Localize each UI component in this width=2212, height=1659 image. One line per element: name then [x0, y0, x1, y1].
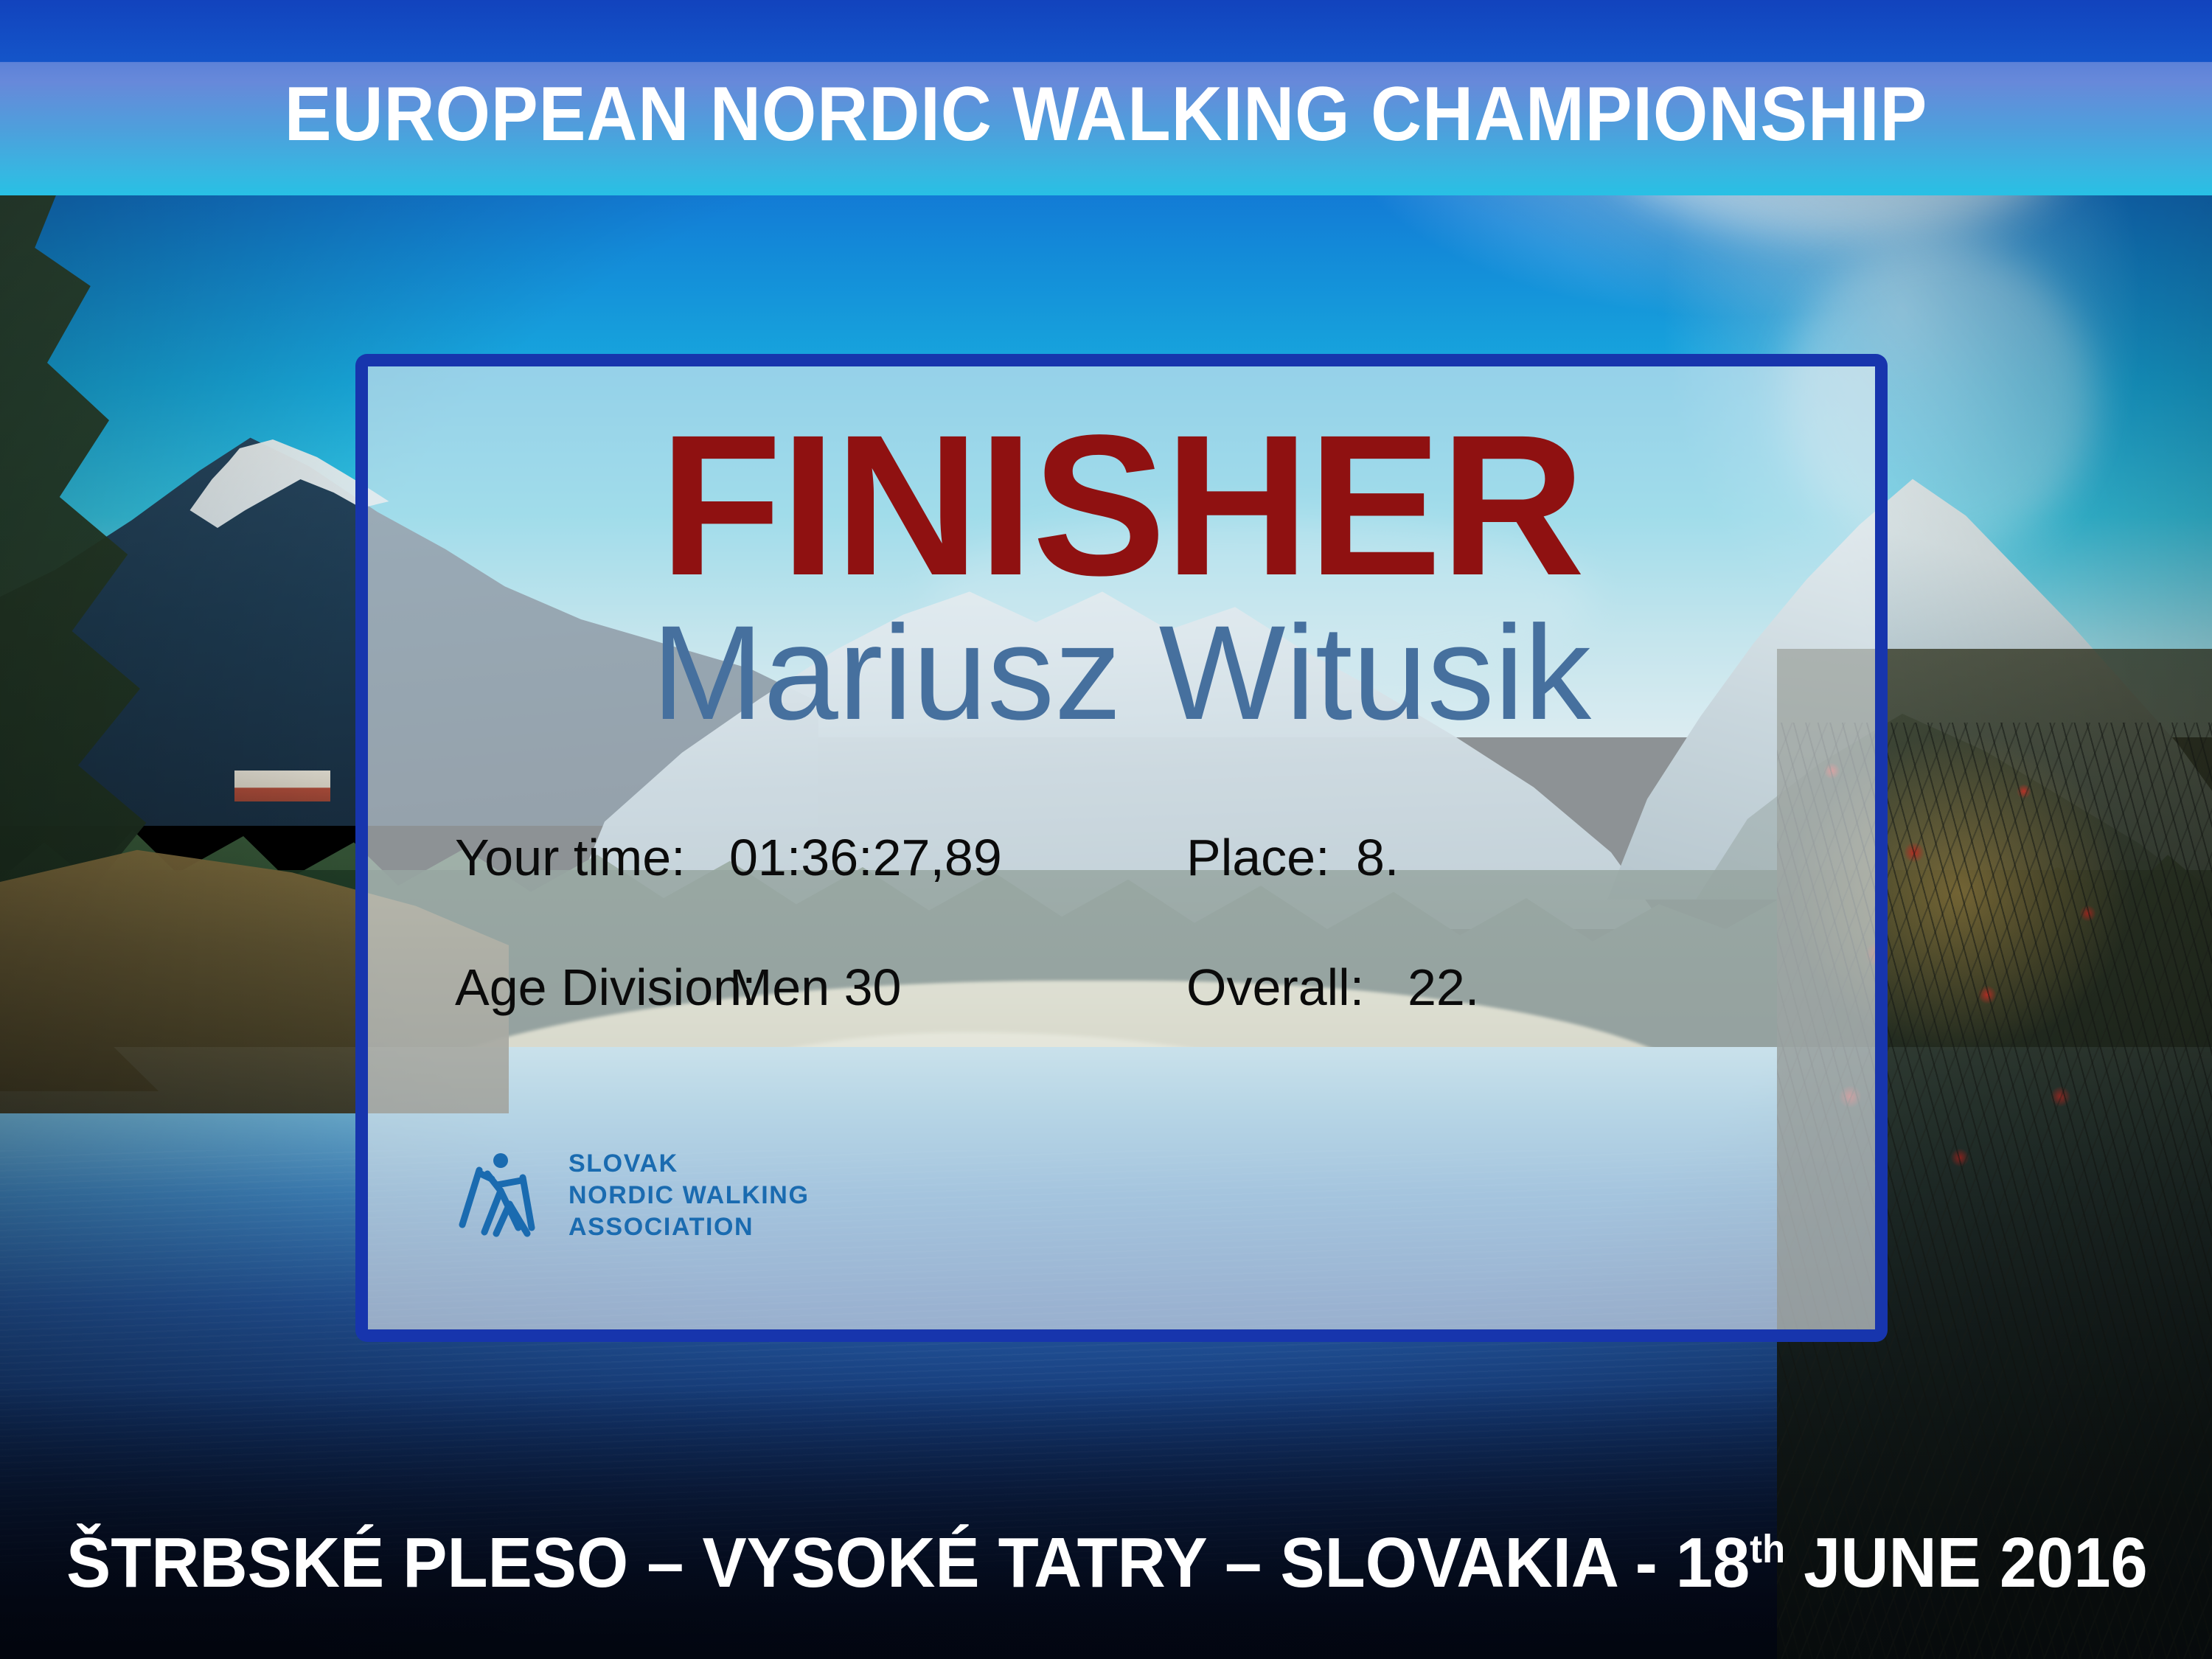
overall-value: 22. — [1408, 953, 1555, 1021]
result-stats: Your time: 01:36:27,89 Place: 8. Age Div… — [368, 824, 1875, 1021]
event-location-date: ŠTRBSKÉ PLESO – VYSOKÉ TATRY – SLOVAKIA … — [66, 1508, 2146, 1604]
your-time-value: 01:36:27,89 — [729, 824, 1186, 891]
footer-date: JUNE 2016 — [1785, 1523, 2148, 1602]
overall-label: Overall: — [1186, 953, 1408, 1021]
your-time-label: Your time: — [368, 824, 729, 891]
event-title: EUROPEAN NORDIC WALKING CHAMPIONSHIP — [88, 71, 2124, 158]
footer-ordinal-suffix: th — [1750, 1527, 1785, 1571]
lakeside-building — [234, 771, 330, 801]
logo-line-3: ASSOCIATION — [568, 1211, 810, 1243]
certificate-card: FINISHER Mariusz Witusik Your time: 01:3… — [355, 354, 1888, 1342]
header-top-stripe — [0, 0, 2212, 62]
nordic-walker-icon — [455, 1151, 549, 1241]
slovak-nordic-walking-association-logo: SLOVAK NORDIC WALKING ASSOCIATION — [455, 1148, 810, 1243]
place-label: Place: — [1186, 824, 1356, 891]
logo-wordmark: SLOVAK NORDIC WALKING ASSOCIATION — [568, 1148, 810, 1243]
logo-line-2: NORDIC WALKING — [568, 1180, 810, 1211]
result-row-division: Age Division: Men 30 Overall: 22. — [368, 953, 1875, 1021]
place-value: 8. — [1356, 824, 1503, 891]
certificate-card-inner: FINISHER Mariusz Witusik Your time: 01:3… — [368, 366, 1875, 1329]
result-row-time: Your time: 01:36:27,89 Place: 8. — [368, 824, 1875, 891]
age-division-value: Men 30 — [729, 953, 1186, 1021]
footer-location: ŠTRBSKÉ PLESO – VYSOKÉ TATRY – SLOVAKIA … — [66, 1523, 1750, 1602]
walker-head-icon — [493, 1153, 508, 1168]
age-division-label: Age Division: — [368, 953, 729, 1021]
athlete-name: Mariusz Witusik — [368, 602, 1875, 742]
finisher-certificate-poster: EUROPEAN NORDIC WALKING CHAMPIONSHIP FIN… — [0, 0, 2212, 1659]
logo-line-1: SLOVAK — [568, 1148, 810, 1180]
status-title: FINISHER — [368, 405, 1875, 605]
